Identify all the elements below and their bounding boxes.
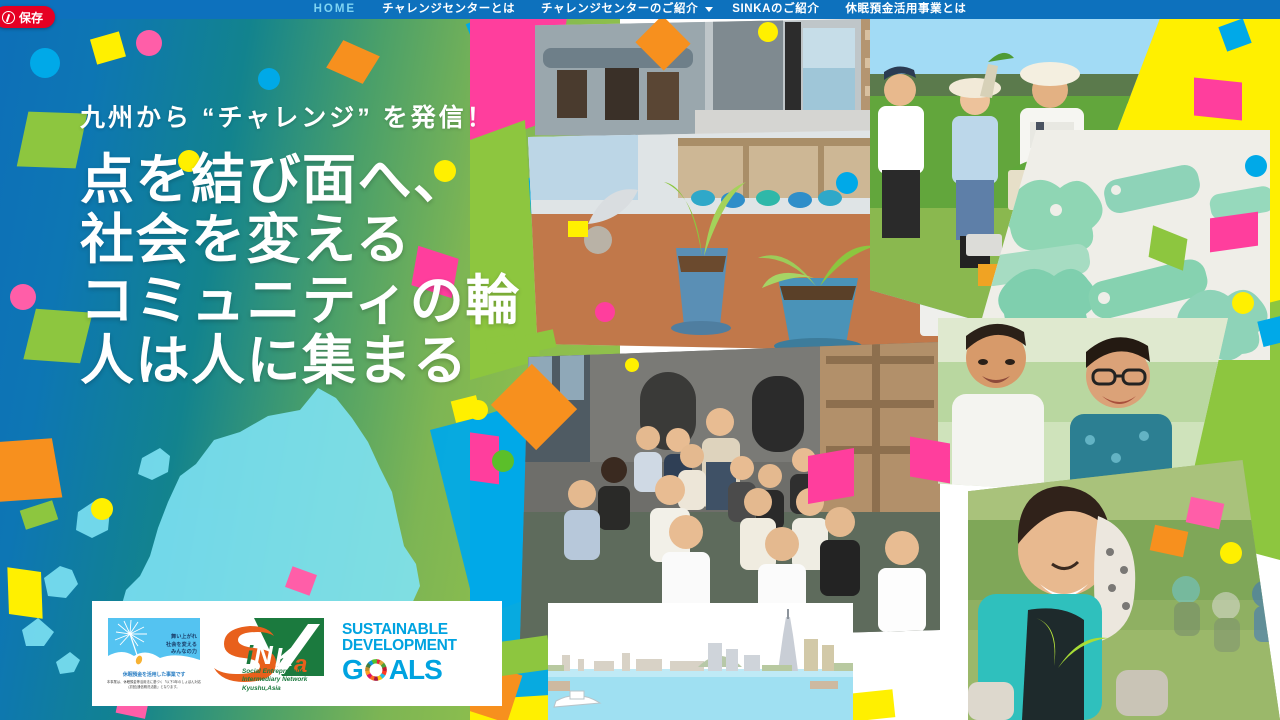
kyumin-logo-text: 舞い上がれ 社会を変える みんなの力 (166, 634, 197, 657)
pinterest-icon (2, 11, 15, 24)
confetti-circle-yellowring-group (625, 358, 639, 372)
hero-lines: 点を結び面へ、 社会を変える コミュニティの輪 人は人に集まる (80, 150, 521, 392)
chevron-down-icon[interactable] (705, 7, 713, 12)
cafe-interior-photo (535, 18, 905, 140)
confetti-quad-pink-topright (1194, 77, 1242, 120)
sdgs-line2: DEVELOPMENT (342, 637, 480, 655)
sdg-color-wheel-icon (363, 657, 389, 683)
nav-item-about-challenge-center[interactable]: チャレンジセンターとは (369, 0, 528, 19)
confetti-quad-green (17, 112, 88, 169)
confetti-circle-pink-left (10, 284, 36, 310)
confetti-circle-green-group (492, 450, 514, 472)
hero-headline: 九州から “チャレンジ” を発信！ 点を結び面へ、 社会を変える コミュニティの… (80, 98, 521, 392)
confetti-circle-yellow-br (1220, 542, 1242, 564)
site-navbar: HOME チャレンジセンターとは チャレンジセンターのご紹介 SINKAのご紹介… (0, 0, 1280, 19)
sdgs-letter-g: G (342, 654, 363, 686)
sinka-tagline: Social Entrepreneur Intermediary Network… (242, 668, 307, 694)
nav-item-sinka-intro[interactable]: SINKAのご紹介 (719, 0, 832, 19)
sdgs-letters-als: ALS (389, 654, 442, 686)
save-button-label: 保存 (19, 9, 43, 26)
confetti-circle-pink-collage (595, 302, 615, 322)
hero-line-1: 点を結び面へ、 (80, 150, 521, 210)
hero-kicker: 九州から “チャレンジ” を発信！ (80, 98, 521, 134)
logo-banner: 舞い上がれ 社会を変える みんなの力 休眠預金を活用した事業です 本事業は、休眠… (92, 601, 502, 706)
nav-item-home[interactable]: HOME (301, 0, 370, 19)
confetti-circle-cyan-right (1245, 155, 1267, 177)
confetti-circle-cyan (30, 48, 60, 78)
confetti-quad-yellow-left (7, 567, 42, 618)
fukuoka-bay-skyline-illustration (548, 603, 853, 720)
confetti-square-yellow (90, 31, 126, 64)
page-stage: 九州から “チャレンジ” を発信！ 点を結び面へ、 社会を変える コミュニティの… (0, 0, 1280, 720)
confetti-circle-yellow-collage (758, 22, 778, 42)
hero-line-2: 社会を変える (80, 210, 521, 270)
confetti-quad-pink-bottomright (910, 436, 950, 483)
kyumin-dandelion-logo: 舞い上がれ 社会を変える みんなの力 休眠預金を活用した事業です 本事業は、休眠… (106, 618, 202, 690)
kyumin-fineprint: 本事業は、休眠預金等活用法に基づく「以下3年のしょぼん対応(初回)通信概況活動」… (106, 680, 202, 690)
confetti-circle-yellow-3 (91, 498, 113, 520)
svg-text:N: N (254, 640, 274, 670)
confetti-quad-pink-groupright (808, 448, 854, 504)
confetti-circle-yellow-right (1232, 292, 1254, 314)
nav-item-dormant-deposits[interactable]: 休眠預金活用事業とは (832, 0, 979, 19)
kyumin-subtitle: 休眠預金を活用した事業です (123, 671, 185, 678)
nav-item-challenge-center-intro[interactable]: チャレンジセンターのご紹介 (528, 0, 711, 19)
sinka-logo: i N K a Social Entrepreneur Intermediary… (212, 614, 332, 694)
confetti-quad-orange-2 (0, 438, 62, 501)
confetti-quad-pink-right-2 (1210, 212, 1258, 253)
sdgs-line3: G (342, 654, 480, 686)
pinterest-save-button[interactable]: 保存 (0, 6, 55, 28)
confetti-quad-orange (326, 40, 380, 84)
confetti-circle-blue (258, 68, 280, 90)
kyumin-logo-image: 舞い上がれ 社会を変える みんなの力 (108, 618, 200, 670)
confetti-circle-pink (136, 30, 162, 56)
confetti-square-yellow-collage (568, 221, 588, 237)
hero-line-3: コミュニティの輪 (80, 271, 521, 331)
svg-text:i: i (246, 640, 254, 670)
confetti-circle-cyan-collage (836, 172, 858, 194)
sdgs-logo: SUSTAINABLE DEVELOPMENT G (342, 621, 480, 686)
group-gathering-photo (520, 342, 940, 642)
tea-picking-woman-photo (968, 460, 1280, 720)
hero-line-4: 人は人に集まる (80, 331, 521, 391)
nav-list: HOME チャレンジセンターとは チャレンジセンターのご紹介 SINKAのご紹介… (301, 0, 980, 19)
